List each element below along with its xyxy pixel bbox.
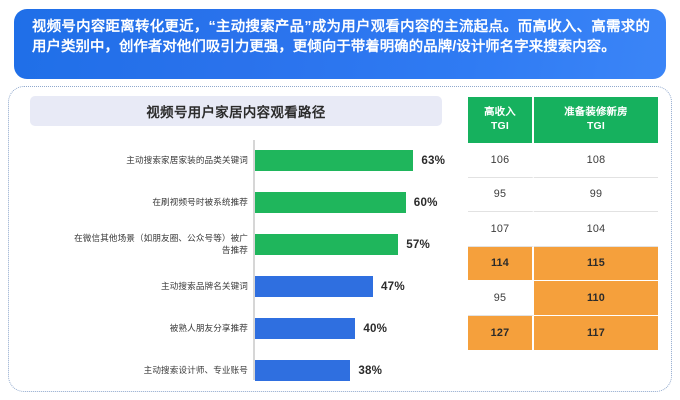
chart-panel: 视频号用户家居内容观看路径 主动搜索家居家装的品类关键词63%在刷视频号时被系统…	[8, 86, 460, 392]
tgi-cell: 99	[534, 178, 658, 213]
bar-row: 在微信其他场景（如朋友圈、公众号等）被广告推荐57%	[8, 224, 460, 264]
bar-value-label: 60%	[414, 196, 438, 209]
bar-category-label: 在刷视频号时被系统推荐	[66, 196, 248, 209]
tgi-cell: 104	[534, 212, 658, 247]
tgi-col-header-new-home: 准备装修新房 TGI	[534, 97, 658, 143]
table-row: 107104	[468, 212, 658, 247]
tgi-col-header-high-income-line1: 高收入	[468, 106, 532, 120]
bar-category-label: 被熟人朋友分享推荐	[66, 322, 248, 335]
table-row: 114115	[468, 247, 658, 282]
bar	[255, 234, 399, 255]
chart-title: 视频号用户家居内容观看路径	[146, 101, 325, 121]
bar-row: 主动搜索品牌名关键词47%	[8, 266, 460, 306]
chart-title-bar: 视频号用户家居内容观看路径	[30, 96, 442, 126]
insight-banner-text: 视频号内容距离转化更近，“主动搜索产品”成为用户观看内容的主流起点。而高收入、高…	[32, 18, 650, 57]
slide-root: 视频号内容距离转化更近，“主动搜索产品”成为用户观看内容的主流起点。而高收入、高…	[0, 0, 680, 400]
bar	[255, 150, 414, 171]
bar-category-label: 主动搜索设计师、专业账号	[66, 364, 248, 377]
tgi-table-body: 106108959910710411411595110127117	[468, 143, 658, 350]
tgi-col-header-new-home-line2: TGI	[534, 120, 658, 134]
bar-value-label: 47%	[381, 280, 405, 293]
tgi-cell: 95	[468, 281, 534, 316]
tgi-cell: 108	[534, 143, 658, 178]
tgi-table-header-row: 高收入 TGI 准备装修新房 TGI	[468, 97, 658, 143]
tgi-col-header-new-home-line1: 准备装修新房	[534, 106, 658, 120]
bar-value-label: 40%	[363, 322, 387, 335]
bar-row: 在刷视频号时被系统推荐60%	[8, 182, 460, 222]
bar-row: 主动搜索家居家装的品类关键词63%	[8, 140, 460, 180]
bar-category-label: 主动搜索家居家装的品类关键词	[66, 154, 248, 167]
bar	[255, 192, 406, 213]
bar	[255, 318, 356, 339]
table-row: 95110	[468, 281, 658, 316]
insight-banner: 视频号内容距离转化更近，“主动搜索产品”成为用户观看内容的主流起点。而高收入、高…	[14, 9, 666, 79]
bar	[255, 360, 351, 381]
bar-category-label: 主动搜索品牌名关键词	[66, 280, 248, 293]
tgi-table-head: 高收入 TGI 准备装修新房 TGI	[468, 97, 658, 143]
tgi-cell: 107	[468, 212, 534, 247]
tgi-cell-highlighted: 117	[534, 316, 658, 351]
tgi-cell: 95	[468, 178, 534, 213]
bar-value-label: 63%	[421, 154, 445, 167]
bar	[255, 276, 373, 297]
table-row: 127117	[468, 316, 658, 351]
tgi-table: 高收入 TGI 准备装修新房 TGI 106108959910710411411…	[468, 97, 658, 350]
tgi-table-panel: 高收入 TGI 准备装修新房 TGI 106108959910710411411…	[468, 97, 658, 382]
tgi-cell-highlighted: 114	[468, 247, 534, 282]
tgi-cell-highlighted: 110	[534, 281, 658, 316]
bar-value-label: 38%	[358, 364, 382, 377]
tgi-cell-highlighted: 127	[468, 316, 534, 351]
table-row: 9599	[468, 178, 658, 213]
tgi-cell-highlighted: 115	[534, 247, 658, 282]
table-row: 106108	[468, 143, 658, 178]
tgi-col-header-high-income-line2: TGI	[468, 120, 532, 134]
bar-value-label: 57%	[406, 238, 430, 251]
bar-category-label: 在微信其他场景（如朋友圈、公众号等）被广告推荐	[66, 232, 248, 257]
bar-row: 主动搜索设计师、专业账号38%	[8, 350, 460, 390]
bar-chart-plot: 主动搜索家居家装的品类关键词63%在刷视频号时被系统推荐60%在微信其他场景（如…	[8, 134, 460, 386]
tgi-col-header-high-income: 高收入 TGI	[468, 97, 534, 143]
bar-row: 被熟人朋友分享推荐40%	[8, 308, 460, 348]
tgi-cell: 106	[468, 143, 534, 178]
